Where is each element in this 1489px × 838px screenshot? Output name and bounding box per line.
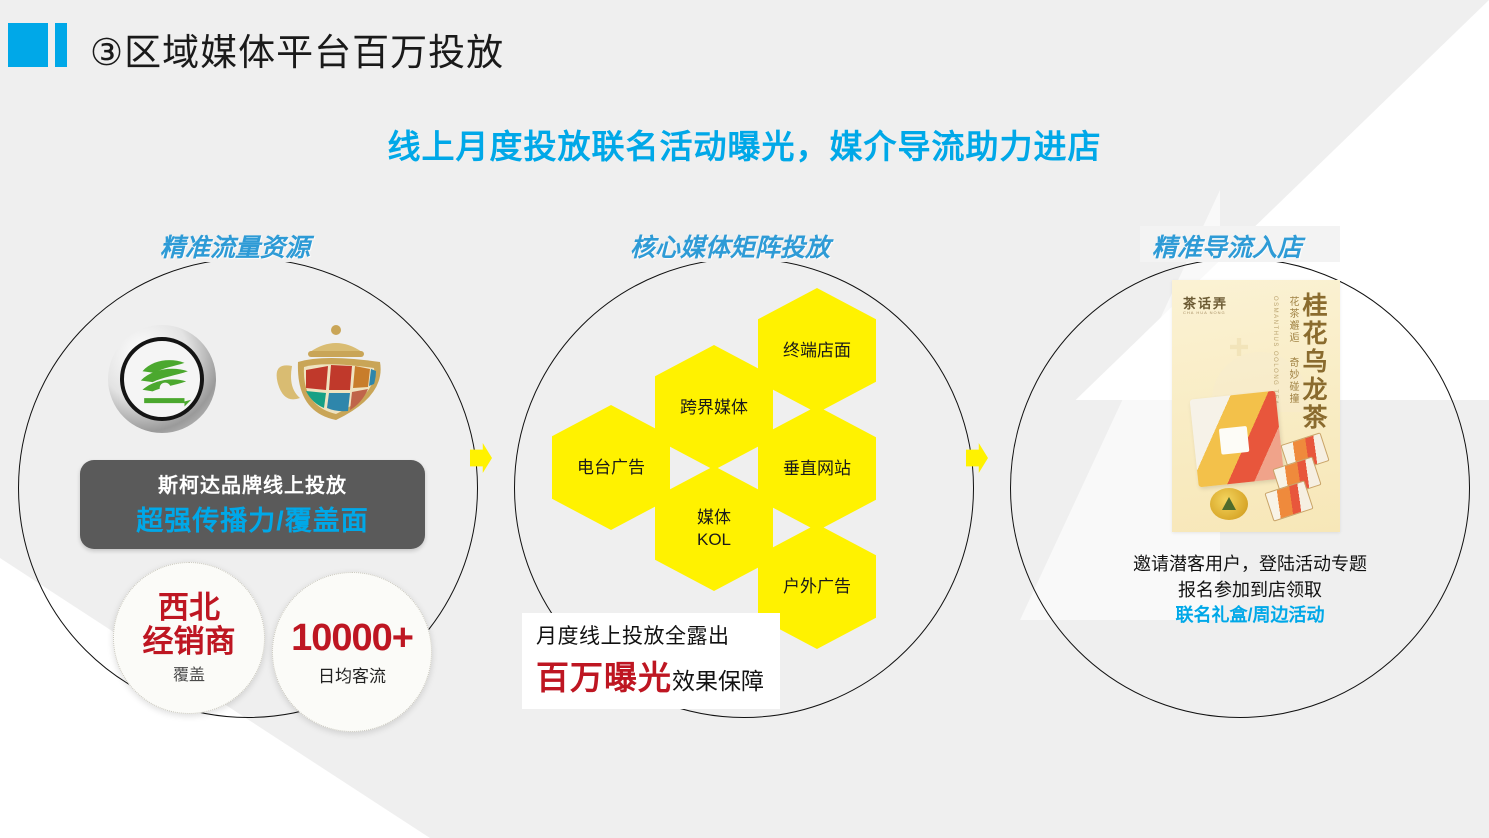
title-accent-bars (8, 23, 67, 67)
stat-value: 10000+ (291, 617, 413, 660)
poster-tea-cup (1210, 488, 1248, 520)
column-header-media-matrix: 核心媒体矩阵投放 (630, 228, 830, 264)
column-header-store-traffic: 精准导流入店 (1152, 228, 1302, 264)
exposure-banner: 月度线上投放全露出 百万曝光效果保障 (522, 613, 780, 709)
cta-line-1: 邀请潜客用户，登陆活动专题 (1085, 552, 1415, 578)
exposure-rest: 效果保障 (672, 668, 764, 694)
skoda-wing-icon (124, 341, 204, 421)
cta-line-3: 联名礼盒/周边活动 (1085, 603, 1415, 629)
cta-text-block: 邀请潜客用户，登陆活动专题 报名参加到店领取 联名礼盒/周边活动 (1085, 552, 1415, 629)
title-accent-bar-large (8, 23, 48, 67)
teapot-logo (258, 318, 390, 438)
product-poster: 茶话弄 CHA HUA NONG 桂花乌龙茶 花茶邂逅 奇妙碰撞 OSMANTH… (1172, 280, 1340, 532)
column-header-traffic: 精准流量资源 (160, 228, 310, 264)
title-accent-bar-small (55, 23, 67, 67)
hexagon-label: 终端店面 (783, 340, 851, 361)
cta-line-2: 报名参加到店领取 (1085, 578, 1415, 604)
poster-product-title-en: OSMANTHUS OOLONG TEA (1272, 296, 1278, 406)
brand-campaign-banner: 斯柯达品牌线上投放 超强传播力/覆盖面 (80, 460, 425, 549)
hexagon-label: 户外广告 (783, 576, 851, 597)
poster-product-subtitle: 花茶邂逅 奇妙碰撞 (1285, 296, 1300, 405)
page-title: ③区域媒体平台百万投放 (90, 22, 504, 76)
banner-line-1: 斯柯达品牌线上投放 (94, 469, 411, 498)
hexagon-label: 垂直网站 (783, 458, 851, 479)
hexagon-label: 跨界媒体 (680, 397, 748, 418)
poster-product-title: 桂花乌龙茶 (1295, 292, 1331, 432)
poster-brand-en: CHA HUA NONG (1183, 310, 1226, 315)
hexagon-label: 电台广告 (577, 457, 645, 478)
poster-sachet-3 (1264, 480, 1313, 522)
poster-box-label (1219, 426, 1250, 455)
exposure-banner-line-1: 月度线上投放全露出 (536, 620, 764, 650)
skoda-logo (108, 325, 216, 433)
exposure-banner-line-2: 百万曝光效果保障 (536, 651, 764, 699)
stat-caption: 覆盖 (173, 661, 205, 685)
poster-product-box (1190, 391, 1285, 488)
slide-canvas: ③区域媒体平台百万投放 线上月度投放联名活动曝光，媒介导流助力进店 精准流量资源 (0, 0, 1489, 838)
exposure-highlight: 百万曝光 (536, 659, 672, 696)
stat-value-line2: 经销商 (143, 625, 236, 658)
stat-caption: 日均客流 (318, 662, 386, 687)
banner-line-2: 超强传播力/覆盖面 (94, 499, 411, 538)
stat-value-line1: 西北 (158, 591, 220, 624)
teapot-leaf-icon (258, 318, 390, 438)
stat-circle-northwest-dealers: 西北 经销商 覆盖 (113, 562, 265, 714)
hexagon-label: 媒体 KOL (697, 507, 731, 550)
stat-circle-daily-traffic: 10000+ 日均客流 (272, 572, 432, 732)
page-subtitle: 线上月度投放联名活动曝光，媒介导流助力进店 (0, 120, 1489, 168)
